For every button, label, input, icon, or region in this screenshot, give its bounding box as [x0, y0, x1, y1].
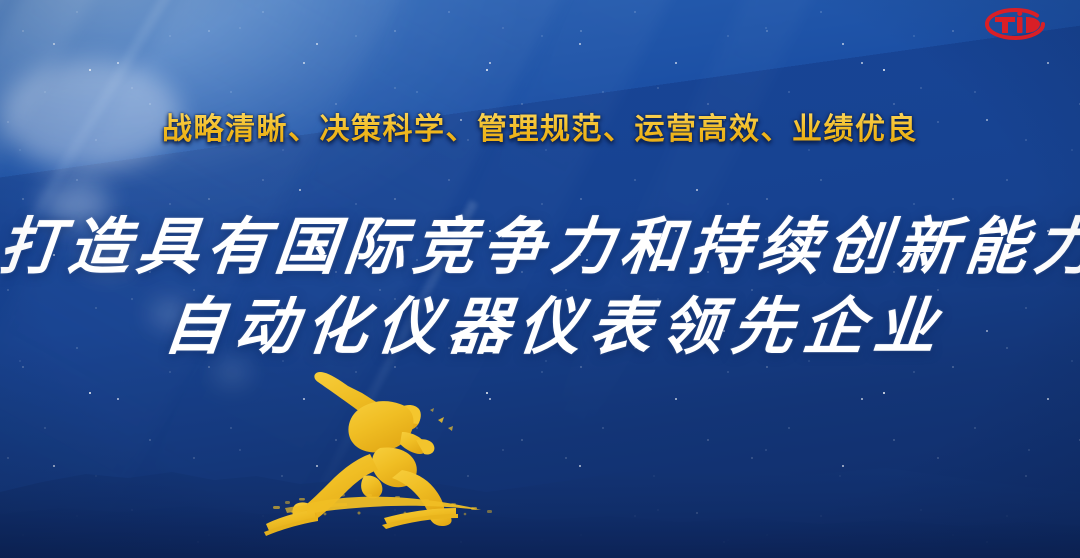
ice-spray [255, 492, 505, 518]
banner-headline: 战略清晰、决策科学、管理规范、运营高效、业绩优良 [0, 104, 1080, 148]
company-logo[interactable] [984, 7, 1046, 41]
slogan-line-1: 打造具有国际竞争力和持续创新能力的 [0, 196, 1080, 286]
slogan-line-2: 自动化仪器仪表领先企业 [0, 276, 1080, 366]
promo-banner: 战略清晰、决策科学、管理规范、运营高效、业绩优良 打造具有国际竞争力和持续创新能… [0, 0, 1080, 558]
banner-content: 战略清晰、决策科学、管理规范、运营高效、业绩优良 打造具有国际竞争力和持续创新能… [0, 0, 1080, 558]
